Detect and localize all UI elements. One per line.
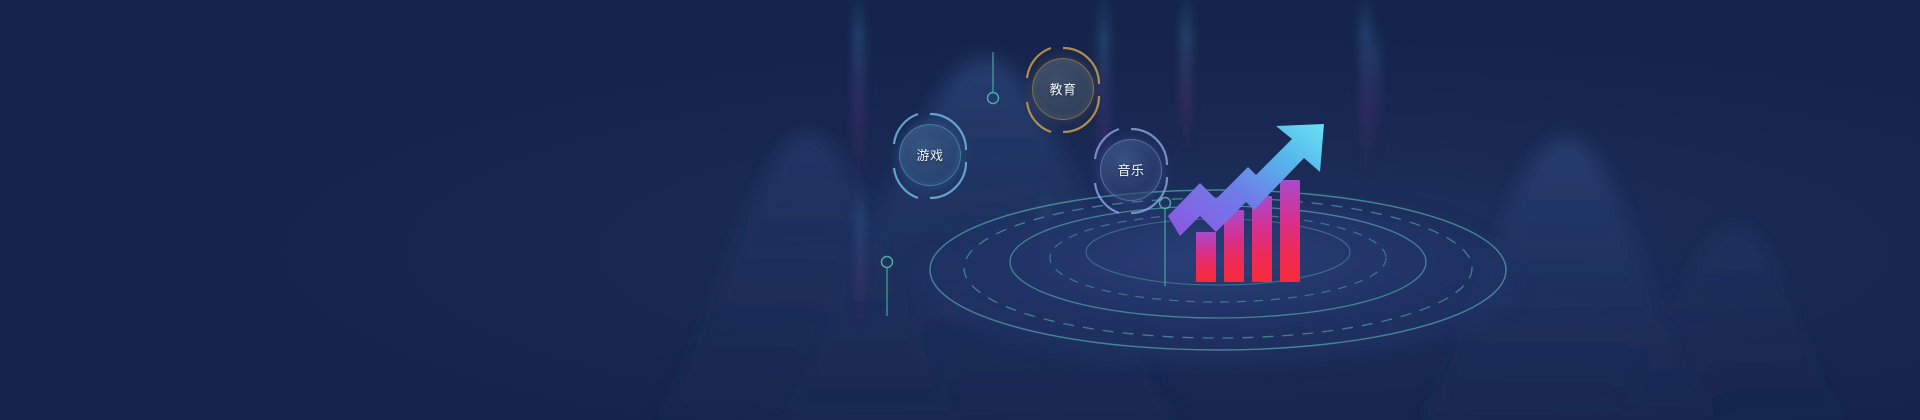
bar-1 [1196, 232, 1216, 282]
beam-1 [855, 0, 862, 190]
badge-education[interactable]: 教育 [1032, 58, 1094, 120]
beam-5 [1182, 0, 1190, 150]
badge-music[interactable]: 音乐 [1100, 139, 1162, 201]
badge-game-label: 游戏 [916, 149, 943, 162]
badge-game[interactable]: 游戏 [899, 124, 961, 186]
badge-education-label: 教育 [1049, 83, 1076, 96]
banner-artwork [0, 0, 1920, 420]
banner-root: 游戏 教育 音乐 [0, 0, 1920, 420]
badge-music-label: 音乐 [1117, 164, 1144, 177]
beam-2 [857, 180, 863, 330]
beam-6 [1362, 0, 1369, 180]
bar-4 [1280, 180, 1300, 282]
beam-7 [1374, 20, 1379, 150]
